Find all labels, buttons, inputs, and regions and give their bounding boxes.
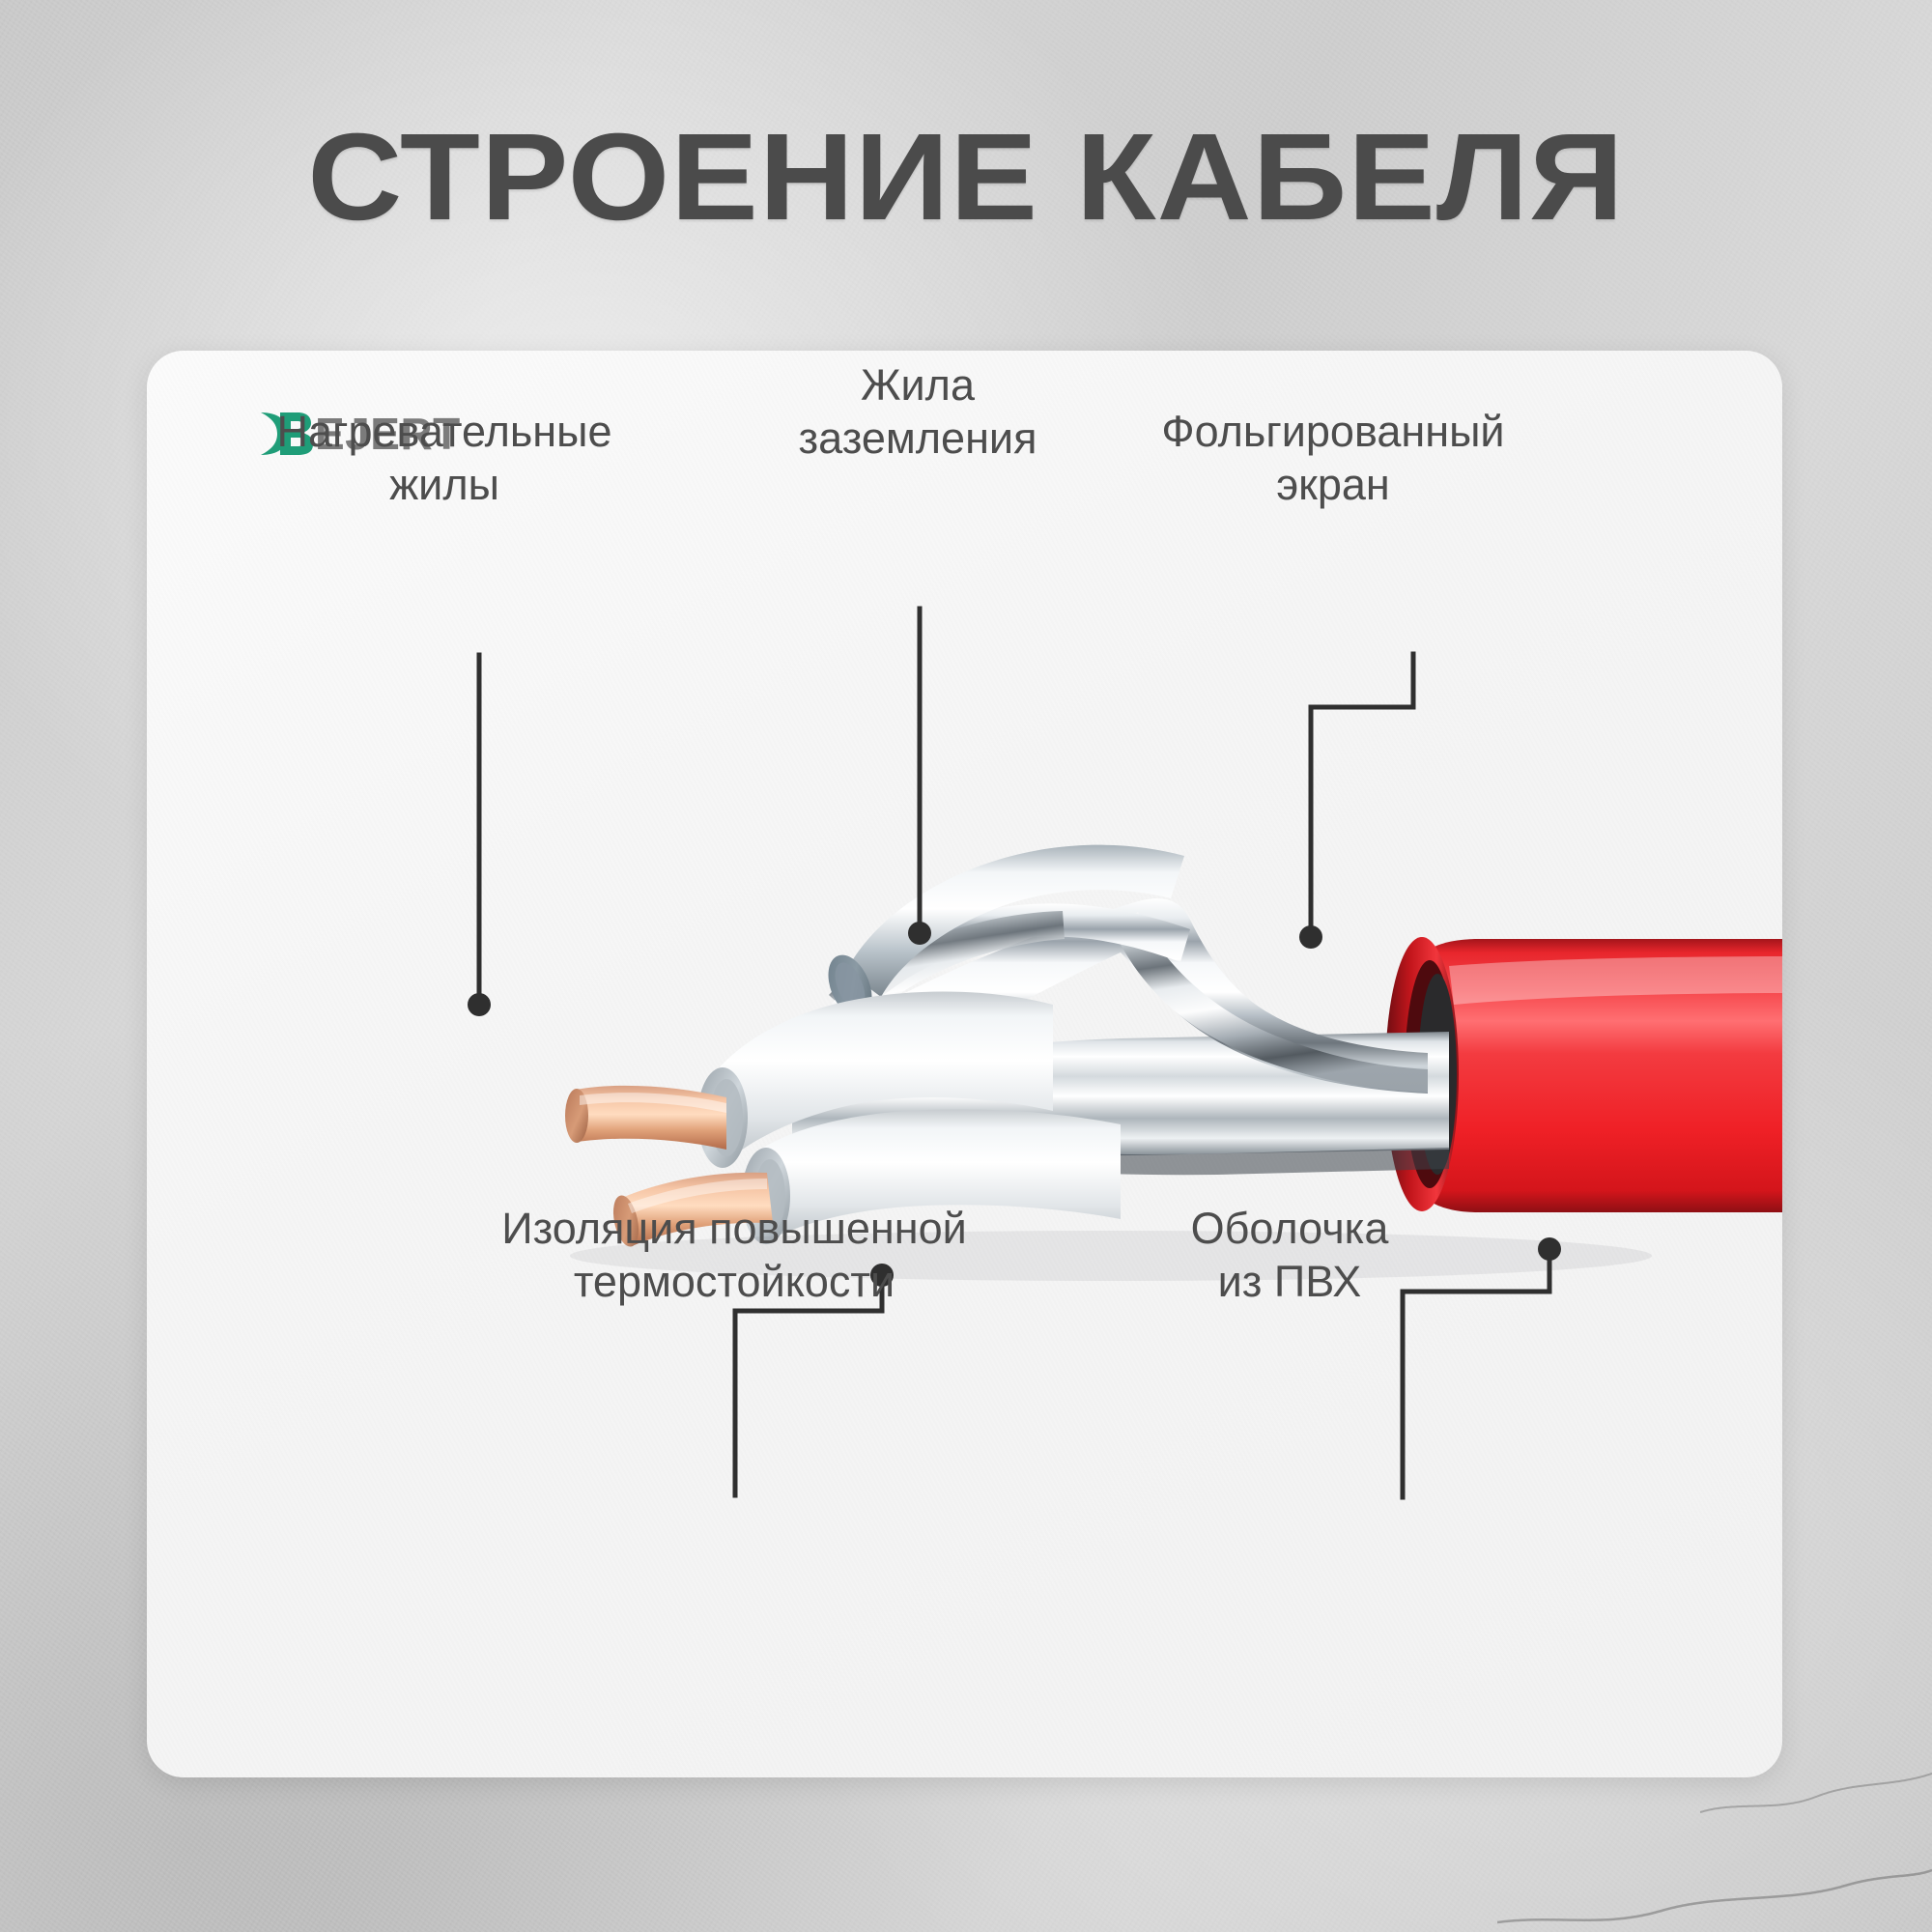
poster-canvas: СТРОЕНИЕ КАБЕЛЯ [0, 0, 1932, 1932]
label-foil-screen: Фольгированный экран [1043, 406, 1623, 512]
label-heating-cores: Нагревательные жилы [184, 406, 705, 512]
cable-cutaway-illustration [0, 0, 1932, 1932]
label-pvc-sheath: Оболочка из ПВХ [1000, 1203, 1579, 1309]
